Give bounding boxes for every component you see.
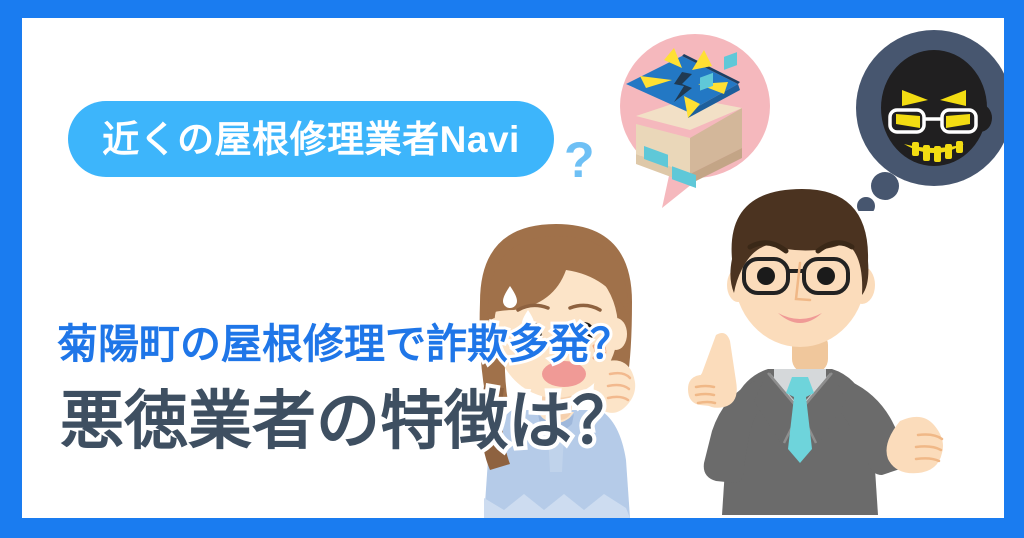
man-eye-left — [757, 267, 775, 285]
headline-subtitle: 菊陽町の屋根修理で詐欺多発？ — [57, 321, 631, 368]
site-badge-label: 近くの屋根修理業者Navi — [102, 121, 520, 158]
banner-content: 近くの屋根修理業者Navi ? 菊陽町の屋根修理で詐欺多発？ 悪徳業者の特徴は？ — [22, 18, 1004, 518]
banner-frame: 近くの屋根修理業者Navi ? 菊陽町の屋根修理で詐欺多発？ 悪徳業者の特徴は？ — [0, 0, 1024, 538]
pointing-businessman-character — [670, 163, 955, 518]
site-badge-pill[interactable]: 近くの屋根修理業者Navi — [68, 101, 554, 177]
man-open-hand — [887, 417, 944, 473]
man-eye-right — [817, 267, 835, 285]
question-mark-icon: ? — [564, 135, 595, 185]
headline-title: 悪徳業者の特徴は？ — [60, 385, 636, 459]
man-pointing-hand — [688, 333, 737, 408]
